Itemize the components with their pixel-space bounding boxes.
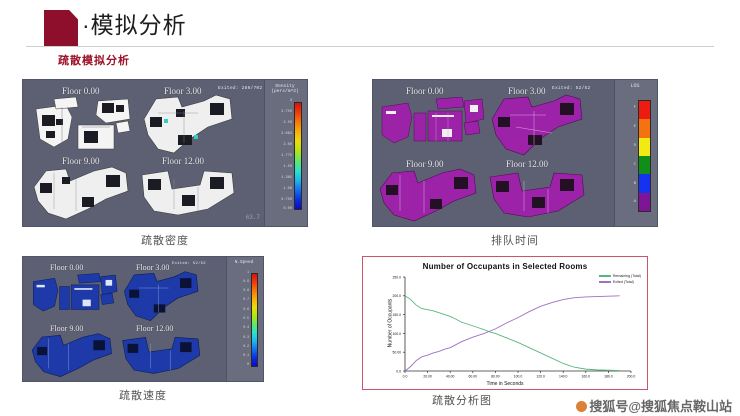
- pathfinder-render-speed: Floor 0.00 Floor 3.00 Floor 9.00 Floor 1…: [22, 256, 264, 382]
- colorbar-panel-speed: N.Speed 1 0.9 0.8 0.7 0.6 0.5 0.4 0.3 0.…: [226, 257, 263, 381]
- svg-text:140.0: 140.0: [559, 375, 568, 379]
- floor-plan-3: [118, 334, 206, 380]
- los-colorbar-ticks: F E D C B A: [624, 100, 636, 212]
- speed-colorbar-ticks: 1 0.9 0.8 0.7 0.6 0.5 0.4 0.3 0.2 0.1 0: [231, 271, 249, 369]
- section-subtitle: 疏散模拟分析: [58, 52, 130, 68]
- figure-analysis-chart: Number of Occupants in Selected Rooms Nu…: [362, 256, 648, 390]
- pathfinder-render-density: Floor 0.00 Floor 3.00 Floor 9.00 Floor 1…: [22, 79, 308, 227]
- figure-density: Floor 0.00 Floor 3.00 Floor 9.00 Floor 1…: [22, 79, 308, 227]
- floor-plan-0: [32, 95, 142, 157]
- watermark: 搜狐号@搜狐焦点鞍山站: [576, 396, 732, 415]
- floor-plan-3: [138, 167, 240, 223]
- figure-caption-density: 疏散密度: [22, 232, 308, 248]
- exited-count-label: Exited: 52/52: [552, 86, 590, 91]
- svg-text:150.0: 150.0: [393, 313, 402, 317]
- floor-label: Floor 0.00: [50, 263, 83, 272]
- flag-shape-icon: [44, 10, 78, 46]
- floor-label: Floor 12.00: [506, 159, 548, 169]
- colorbar-title: N.Speed: [227, 260, 261, 265]
- svg-text:0.0: 0.0: [403, 375, 408, 379]
- floor-plan-1: [138, 93, 238, 159]
- floor-plan-3: [486, 169, 590, 225]
- svg-text:160.0: 160.0: [582, 375, 591, 379]
- floor-label: Floor 12.00: [136, 324, 173, 333]
- svg-text:80.00: 80.00: [491, 375, 500, 379]
- svg-text:20.00: 20.00: [423, 375, 432, 379]
- colorbar-panel-los: LOS F E D C B A: [614, 80, 657, 226]
- floor-plan-1: [486, 93, 590, 159]
- svg-text:50.00: 50.00: [393, 351, 402, 355]
- floor-plan-0: [378, 97, 490, 157]
- colorbar-title: LOS: [615, 84, 655, 89]
- floor-label: Floor 0.00: [406, 86, 444, 96]
- svg-text:200.0: 200.0: [393, 294, 402, 298]
- floor-plan-2: [32, 165, 140, 223]
- figure-speed: Floor 0.00 Floor 3.00 Floor 9.00 Floor 1…: [22, 256, 264, 382]
- density-colorbar: [294, 102, 302, 210]
- page-title: ·模拟分析: [82, 10, 187, 40]
- figure-caption-speed: 疏散速度: [22, 387, 264, 403]
- floor-plan-0: [30, 273, 122, 323]
- pathfinder-render-queuing: Floor 0.00 Floor 3.00 Floor 9.00 Floor 1…: [372, 79, 658, 227]
- figure-caption-queuing: 排队时间: [372, 232, 658, 248]
- colorbar-panel-density: Density (pers/m^2) 3 2.750 2.50 2.063 2.…: [264, 80, 307, 226]
- speed-colorbar: [251, 273, 258, 367]
- floor-plan-2: [30, 332, 122, 380]
- floor-plan-1: [118, 270, 206, 324]
- simulation-time-label: 63.7: [246, 214, 260, 221]
- chart-plot-area: 0.050.00100.0150.0200.0250.00.020.0040.0…: [363, 257, 649, 391]
- figure-caption-chart: 疏散分析图: [362, 392, 562, 408]
- watermark-text: 搜狐号@搜狐焦点鞍山站: [589, 399, 732, 414]
- svg-text:200.0: 200.0: [627, 375, 636, 379]
- figure-queuing: Floor 0.00 Floor 3.00 Floor 9.00 Floor 1…: [372, 79, 658, 227]
- svg-text:100.0: 100.0: [393, 332, 402, 336]
- svg-text:0.0: 0.0: [396, 369, 401, 373]
- slide-root: ·模拟分析 疏散模拟分析 Floor 0.00 Floor 3.00 Floor…: [0, 0, 740, 416]
- sohu-logo-icon: [576, 401, 587, 412]
- header-divider: [26, 46, 714, 47]
- density-colorbar-ticks: 3 2.750 2.50 2.063 2.00 1.775 1.50 1.385…: [268, 100, 292, 212]
- los-colorbar: [638, 100, 651, 212]
- svg-text:180.0: 180.0: [604, 375, 613, 379]
- slide-header: ·模拟分析: [0, 0, 740, 48]
- svg-text:60.00: 60.00: [469, 375, 478, 379]
- floor-plan-2: [378, 167, 488, 225]
- svg-text:120.0: 120.0: [536, 375, 545, 379]
- exited-count-label: Exited: 286/702: [218, 86, 262, 91]
- svg-text:100.0: 100.0: [514, 375, 523, 379]
- colorbar-title: Density (pers/m^2): [265, 84, 305, 94]
- svg-text:40.00: 40.00: [446, 375, 455, 379]
- svg-text:250.0: 250.0: [393, 275, 402, 279]
- exited-count-label: Exited: 52/52: [172, 262, 206, 266]
- occupants-chart: Number of Occupants in Selected Rooms Nu…: [362, 256, 648, 390]
